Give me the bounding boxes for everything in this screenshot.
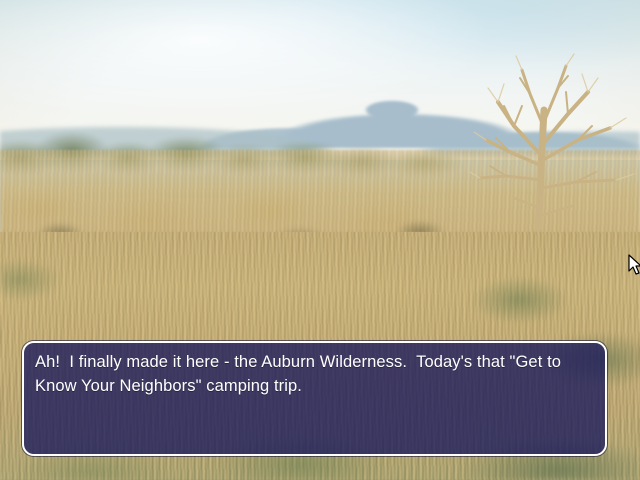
dialogue-box[interactable]: Ah! I finally made it here - the Auburn … (22, 341, 607, 456)
bare-tree (470, 48, 640, 263)
game-screen: Ah! I finally made it here - the Auburn … (0, 0, 640, 480)
mouse-pointer-icon (628, 254, 640, 276)
dialogue-text: Ah! I finally made it here - the Auburn … (35, 350, 595, 398)
